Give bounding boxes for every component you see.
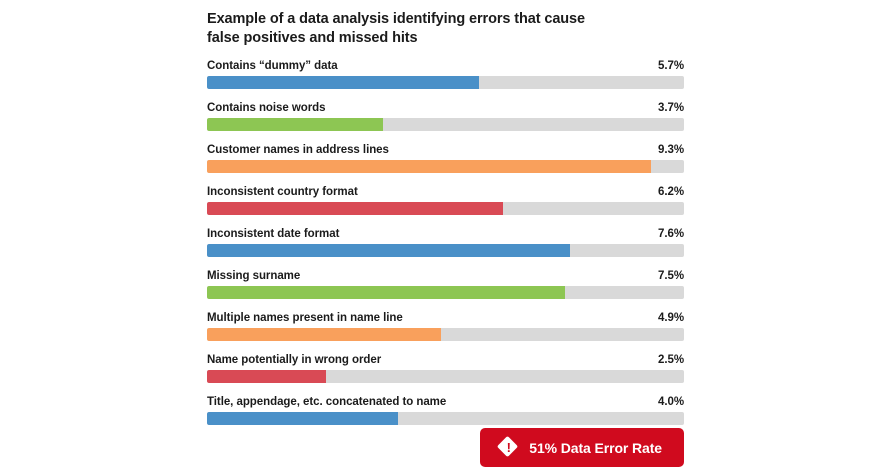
- bar-row: Multiple names present in name line4.9%: [207, 312, 684, 341]
- chart-page: Example of a data analysis identifying e…: [0, 0, 894, 469]
- bar-label: Multiple names present in name line: [207, 312, 403, 324]
- bar-value: 3.7%: [658, 102, 684, 114]
- bar-value: 9.3%: [658, 144, 684, 156]
- bar-track: [207, 328, 684, 341]
- bar-label: Title, appendage, etc. concatenated to n…: [207, 396, 446, 408]
- bar-label: Missing surname: [207, 270, 300, 282]
- bar-label: Contains noise words: [207, 102, 326, 114]
- bar-row: Missing surname7.5%: [207, 270, 684, 299]
- alert-exclamation-glyph: !: [498, 437, 519, 458]
- bar-header: Customer names in address lines9.3%: [207, 144, 684, 156]
- bar-track: [207, 286, 684, 299]
- bar-row: Customer names in address lines9.3%: [207, 144, 684, 173]
- bar-row: Title, appendage, etc. concatenated to n…: [207, 396, 684, 425]
- bar-header: Missing surname7.5%: [207, 270, 684, 282]
- bar-header: Contains “dummy” data5.7%: [207, 60, 684, 72]
- bar-value: 7.6%: [658, 228, 684, 240]
- bar-header: Inconsistent country format6.2%: [207, 186, 684, 198]
- bar-value: 5.7%: [658, 60, 684, 72]
- bar-track: [207, 76, 684, 89]
- bar-value: 7.5%: [658, 270, 684, 282]
- bar-value: 2.5%: [658, 354, 684, 366]
- alert-diamond-icon: !: [498, 437, 519, 458]
- bar-label: Name potentially in wrong order: [207, 354, 381, 366]
- bar-track: [207, 412, 684, 425]
- bar-row: Name potentially in wrong order2.5%: [207, 354, 684, 383]
- bar-label: Contains “dummy” data: [207, 60, 338, 72]
- bar-value: 4.9%: [658, 312, 684, 324]
- chart-container: Example of a data analysis identifying e…: [207, 0, 684, 438]
- bar-fill: [207, 412, 398, 425]
- badge-container: ! 51% Data Error Rate: [207, 428, 684, 467]
- bar-label: Inconsistent date format: [207, 228, 339, 240]
- bar-fill: [207, 202, 503, 215]
- bar-track: [207, 160, 684, 173]
- bar-row: Contains “dummy” data5.7%: [207, 60, 684, 89]
- bar-row: Inconsistent date format7.6%: [207, 228, 684, 257]
- bar-row: Contains noise words3.7%: [207, 102, 684, 131]
- bar-track: [207, 202, 684, 215]
- bar-value: 4.0%: [658, 396, 684, 408]
- bar-fill: [207, 76, 479, 89]
- chart-title: Example of a data analysis identifying e…: [207, 0, 684, 48]
- bar-header: Title, appendage, etc. concatenated to n…: [207, 396, 684, 408]
- badge-label: 51% Data Error Rate: [529, 440, 662, 456]
- bar-header: Inconsistent date format7.6%: [207, 228, 684, 240]
- bar-track: [207, 244, 684, 257]
- bar-header: Multiple names present in name line4.9%: [207, 312, 684, 324]
- bar-value: 6.2%: [658, 186, 684, 198]
- bar-track: [207, 370, 684, 383]
- bar-list: Contains “dummy” data5.7%Contains noise …: [207, 60, 684, 425]
- bar-label: Inconsistent country format: [207, 186, 358, 198]
- bar-fill: [207, 328, 441, 341]
- bar-fill: [207, 118, 383, 131]
- bar-fill: [207, 160, 651, 173]
- bar-label: Customer names in address lines: [207, 144, 389, 156]
- bar-fill: [207, 370, 326, 383]
- bar-track: [207, 118, 684, 131]
- bar-fill: [207, 244, 570, 257]
- data-error-rate-badge[interactable]: ! 51% Data Error Rate: [480, 428, 684, 467]
- bar-row: Inconsistent country format6.2%: [207, 186, 684, 215]
- bar-header: Contains noise words3.7%: [207, 102, 684, 114]
- bar-fill: [207, 286, 565, 299]
- bar-header: Name potentially in wrong order2.5%: [207, 354, 684, 366]
